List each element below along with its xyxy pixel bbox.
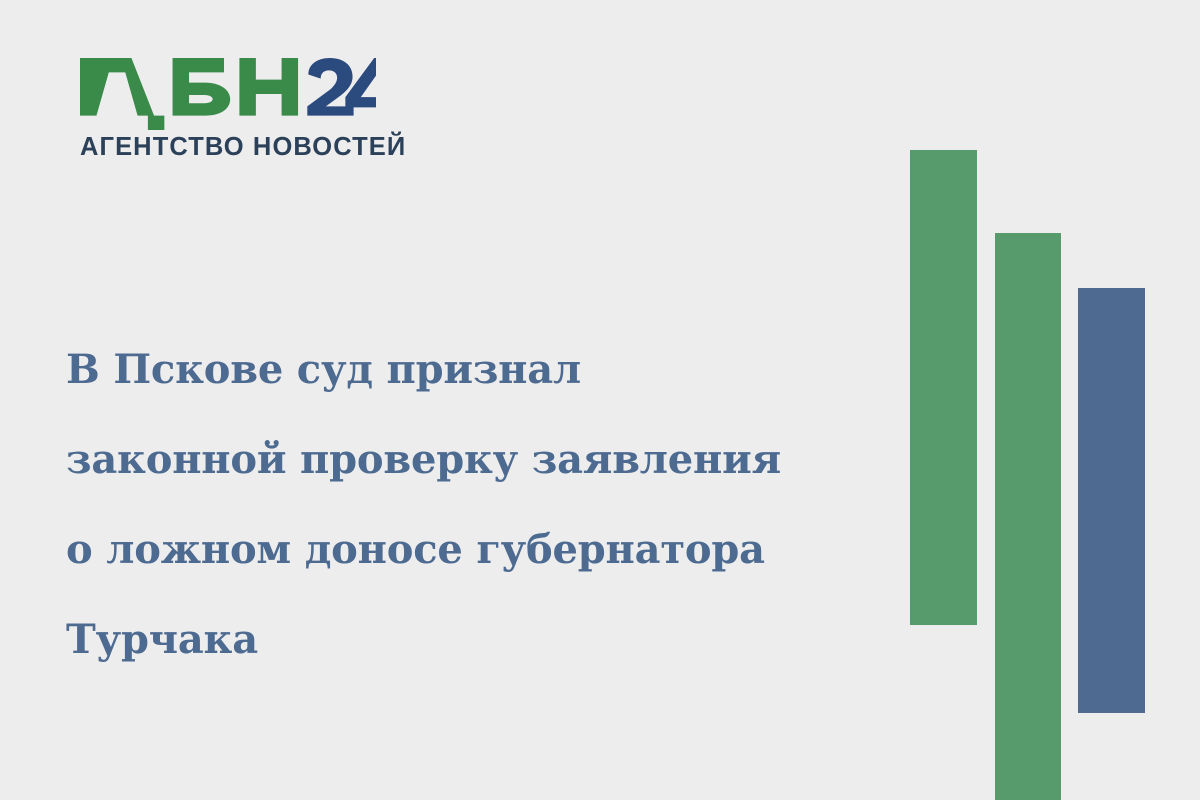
news-card: АГЕНТСТВО НОВОСТЕЙ В Пскове суд признал … xyxy=(0,0,1200,800)
abn24-wordmark-icon xyxy=(80,58,376,130)
decorative-bar-3 xyxy=(1078,288,1145,713)
article-headline: В Пскове суд признал законной проверку з… xyxy=(66,325,876,685)
headline-line-1: В Пскове суд признал xyxy=(66,325,876,415)
decorative-bar-2 xyxy=(995,233,1061,800)
logo-tagline: АГЕНТСТВО НОВОСТЕЙ xyxy=(80,135,380,161)
headline-line-4: Турчака xyxy=(66,595,876,685)
headline-line-2: законной проверку заявления xyxy=(66,415,876,505)
headline-line-3: о ложном доносе губернатора xyxy=(66,505,876,595)
site-logo[interactable]: АГЕНТСТВО НОВОСТЕЙ xyxy=(80,58,380,161)
decorative-bar-1 xyxy=(910,150,977,625)
